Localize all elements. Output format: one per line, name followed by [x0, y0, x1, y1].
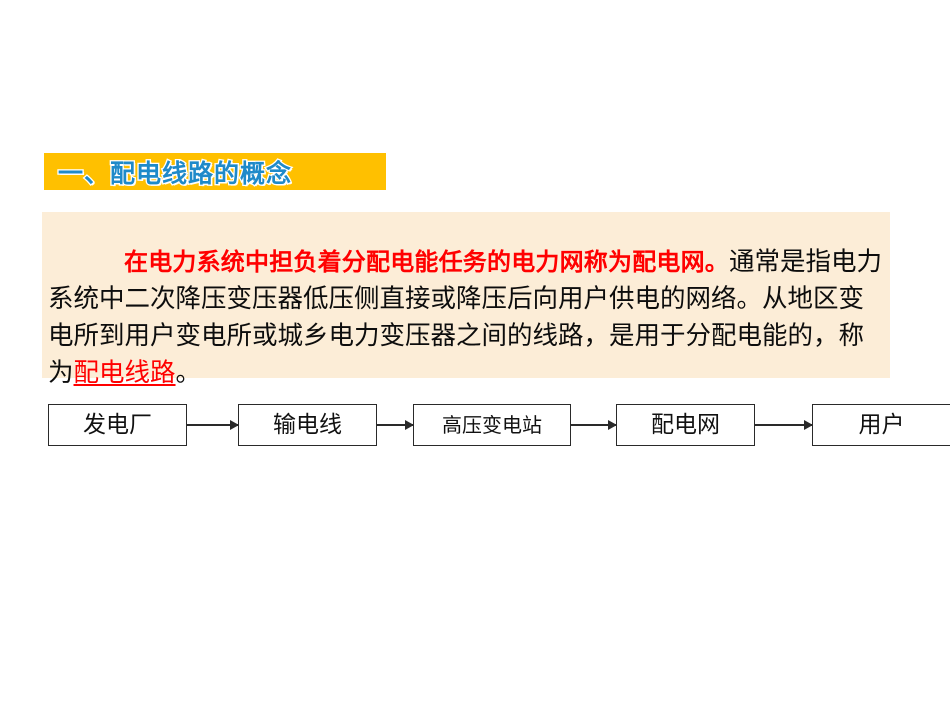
flow-arrow-2: [377, 424, 413, 426]
flow-node-label: 发电厂: [83, 414, 152, 437]
flow-node-distribution-network: 配电网: [616, 404, 755, 446]
highlighted-term: 配电线路: [74, 358, 176, 388]
slide-canvas: 一、配电线路的概念 在电力系统中担负着分配电能任务的电力网称为配电网。通常是指电…: [0, 0, 950, 714]
body-text-panel: 在电力系统中担负着分配电能任务的电力网称为配电网。通常是指电力系统中二次降压变压…: [42, 212, 890, 378]
body-text-part-2: 。: [176, 358, 202, 388]
section-heading-banner: 一、配电线路的概念: [44, 153, 386, 190]
flow-node-hv-substation: 高压变电站: [413, 404, 571, 446]
section-heading-text: 一、配电线路的概念: [58, 154, 292, 190]
flow-arrow-3: [571, 424, 616, 426]
flow-arrow-1: [187, 424, 238, 426]
flow-node-label: 配电网: [651, 414, 720, 437]
flow-node-label: 输电线: [273, 414, 342, 437]
flow-arrow-4: [755, 424, 812, 426]
lead-sentence: 在电力系统中担负着分配电能任务的电力网称为配电网。: [124, 248, 729, 276]
flow-node-consumer: 用户: [812, 404, 950, 446]
power-flow-diagram: 发电厂 输电线 高压变电站 配电网 用户: [0, 404, 950, 466]
body-paragraph: 在电力系统中担负着分配电能任务的电力网称为配电网。通常是指电力系统中二次降压变压…: [48, 244, 888, 392]
flow-node-transmission-line: 输电线: [238, 404, 377, 446]
flow-node-label: 高压变电站: [442, 415, 542, 435]
flow-node-label: 用户: [859, 414, 905, 437]
flow-node-power-plant: 发电厂: [48, 404, 187, 446]
